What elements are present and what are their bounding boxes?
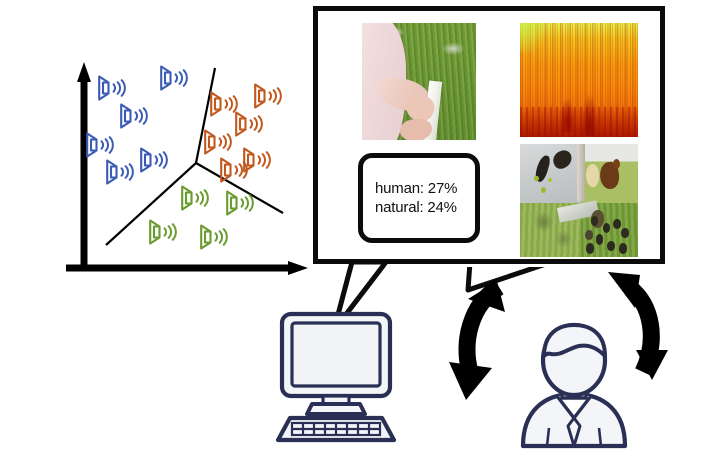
duckling-shape <box>619 243 627 253</box>
desktop-computer-icon[interactable] <box>278 314 394 440</box>
spectrogram-onset-blob-b <box>581 93 598 136</box>
video-frame-person-with-stick[interactable] <box>362 23 476 140</box>
prediction-line-natural: natural: 24% <box>375 198 475 217</box>
spectrogram-low-frequency-band <box>520 107 638 137</box>
green-cluster <box>150 187 253 249</box>
video-frame-birds[interactable] <box>520 144 638 257</box>
user-avatar-icon[interactable] <box>523 325 625 446</box>
blurred-patch-b <box>555 230 572 248</box>
green-speck-a <box>534 176 539 182</box>
fence-post-shape <box>577 144 585 201</box>
green-speck-b <box>541 187 546 193</box>
speech-bubble-tail <box>318 255 660 330</box>
blurred-patch-a <box>534 212 553 232</box>
blue-cluster <box>87 67 187 184</box>
prediction-line-human: human: 27% <box>375 179 475 198</box>
audio-spectrogram[interactable] <box>520 23 638 137</box>
duckling-shape <box>621 228 629 238</box>
scatter-axes <box>66 62 308 275</box>
spectrogram-high-energy-corner <box>520 23 546 53</box>
pale-animal-shape <box>586 164 599 187</box>
orange-cluster <box>205 85 281 182</box>
spectrogram-onset-blob-a <box>560 98 575 132</box>
duckling-shape <box>586 243 594 253</box>
prediction-scores-box: human: 27% natural: 24% <box>358 153 480 243</box>
prediction-speech-bubble: human: 27% natural: 24% <box>313 6 665 264</box>
feedback-loop-arrows <box>449 272 668 400</box>
duckling-shape <box>596 234 604 244</box>
duckling-shape <box>613 219 621 229</box>
birds-quadrant-top-left <box>520 144 581 203</box>
person-hand-lower-shape <box>399 117 433 140</box>
cluster-decision-boundaries <box>106 68 283 245</box>
figure-canvas: human: 27% natural: 24% <box>0 0 720 450</box>
duckling-shape <box>585 230 593 240</box>
